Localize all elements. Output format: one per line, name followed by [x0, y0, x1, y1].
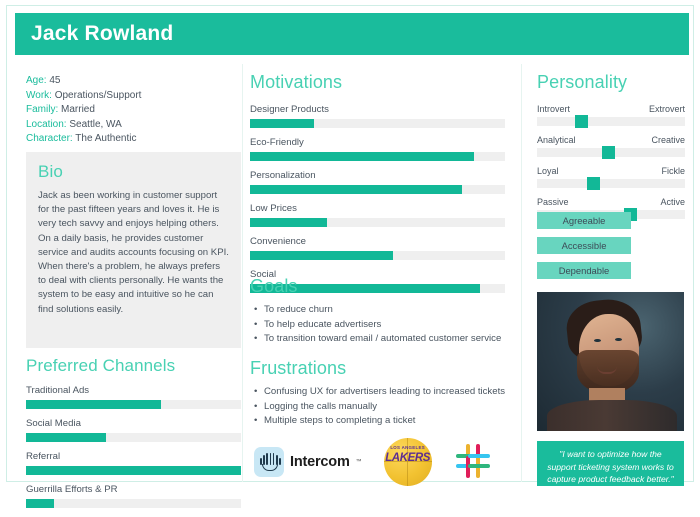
brand-logos: Intercom ™ LOS ANGELES LAKERS	[254, 438, 519, 486]
slack-logo	[454, 442, 494, 482]
attribute-row: Age: 45	[26, 74, 241, 89]
bar-fill	[250, 119, 314, 128]
frustrations-title: Frustrations	[250, 358, 515, 379]
bio-panel: Bio Jack as been working in customer sup…	[26, 152, 241, 348]
bio-title: Bio	[38, 162, 229, 182]
attribute-value: The Authentic	[73, 133, 137, 144]
list-item: To help educate advertisers	[264, 318, 515, 333]
photo-shirt	[547, 400, 677, 431]
personality-right-label: Active	[660, 197, 685, 207]
attribute-row: Character: The Authentic	[26, 132, 241, 147]
quote-box: "I want to optimize how the support tick…	[537, 441, 684, 486]
preferred-channels-bars: Traditional AdsSocial MediaReferralGuerr…	[26, 385, 241, 508]
bar-track	[250, 185, 505, 194]
personality-right-label: Extrovert	[649, 104, 685, 114]
bar-track	[26, 466, 241, 475]
bar-label: Eco-Friendly	[250, 137, 505, 149]
attribute-key: Character:	[26, 133, 73, 144]
bar-track	[26, 400, 241, 409]
personality-endpoints: PassiveActive	[537, 197, 685, 207]
left-column: Age: 45Work: Operations/SupportFamily: M…	[16, 64, 241, 482]
preferred-channels-title: Preferred Channels	[26, 356, 241, 376]
bio-text: Jack as been working in customer support…	[38, 189, 229, 317]
personality-left-label: Loyal	[537, 166, 559, 176]
goals-section: Goals To reduce churnTo help educate adv…	[250, 276, 515, 347]
goals-list: To reduce churnTo help educate advertise…	[250, 303, 515, 347]
column-divider-left	[242, 64, 243, 482]
personality-left-label: Analytical	[537, 135, 576, 145]
bar-fill	[26, 499, 54, 508]
motivations-section: Motivations Designer ProductsEco-Friendl…	[250, 72, 505, 302]
personality-slider[interactable]	[537, 179, 685, 188]
list-item: Logging the calls manually	[264, 400, 515, 415]
personality-slider[interactable]	[537, 148, 685, 157]
column-divider-right	[521, 64, 522, 482]
attribute-key: Work:	[26, 90, 52, 101]
personality-endpoints: LoyalFickle	[537, 166, 685, 176]
list-item: To transition toward email / automated c…	[264, 332, 515, 347]
bar-label: Personalization	[250, 170, 505, 182]
intercom-icon	[254, 447, 284, 477]
personality-endpoints: AnalyticalCreative	[537, 135, 685, 145]
personality-title: Personality	[537, 72, 685, 93]
bar-fill	[250, 185, 462, 194]
persona-header: Jack Rowland	[15, 13, 689, 55]
attribute-row: Location: Seattle, WA	[26, 118, 241, 133]
trait-tag-accessible[interactable]: Accessible	[537, 237, 631, 254]
bar-track	[26, 433, 241, 442]
bar-track	[26, 499, 241, 508]
bar-fill	[250, 218, 327, 227]
frustrations-list: Confusing UX for advertisers leading to …	[250, 385, 515, 429]
bar-label: Convenience	[250, 236, 505, 248]
slider-knob[interactable]	[602, 146, 615, 159]
attribute-value: Married	[58, 104, 95, 115]
bar-fill	[250, 152, 474, 161]
list-item: Multiple steps to completing a ticket	[264, 414, 515, 429]
attribute-value: 45	[47, 75, 61, 86]
attribute-key: Family:	[26, 104, 58, 115]
avatar	[537, 292, 684, 431]
bar-track	[250, 119, 505, 128]
preferred-channels-section: Preferred Channels Traditional AdsSocial…	[26, 356, 241, 517]
bar-label: Social Media	[26, 418, 241, 430]
bar-track	[250, 218, 505, 227]
personality-row: AnalyticalCreative	[537, 135, 685, 157]
attribute-row: Family: Married	[26, 103, 241, 118]
trait-tag-agreeable[interactable]: Agreeable	[537, 212, 631, 229]
list-item: Confusing UX for advertisers leading to …	[264, 385, 515, 400]
personality-row: IntrovertExtrovert	[537, 104, 685, 126]
goals-title: Goals	[250, 276, 515, 297]
personality-row: LoyalFickle	[537, 166, 685, 188]
right-column: Personality IntrovertExtrovertAnalytical…	[529, 64, 689, 482]
persona-card: Jack Rowland Age: 45Work: Operations/Sup…	[6, 5, 694, 482]
personality-left-label: Passive	[537, 197, 569, 207]
attribute-value: Operations/Support	[52, 90, 142, 101]
intercom-logo: Intercom ™	[254, 447, 362, 477]
personality-slider[interactable]	[537, 117, 685, 126]
bar-fill	[250, 251, 393, 260]
bar-track	[250, 152, 505, 161]
bar-label: Guerrilla Efforts & PR	[26, 484, 241, 496]
bar-label: Referral	[26, 451, 241, 463]
page-title: Jack Rowland	[31, 22, 173, 46]
personality-left-label: Introvert	[537, 104, 570, 114]
intercom-smile-icon	[262, 464, 278, 471]
intercom-trademark: ™	[356, 459, 362, 465]
motivations-bars: Designer ProductsEco-FriendlyPersonaliza…	[250, 104, 505, 293]
personality-endpoints: IntrovertExtrovert	[537, 104, 685, 114]
middle-column: Motivations Designer ProductsEco-Friendl…	[250, 64, 519, 482]
bar-label: Low Prices	[250, 203, 505, 215]
bar-fill	[26, 466, 241, 475]
trait-tag-dependable[interactable]: Dependable	[537, 262, 631, 279]
personality-right-label: Creative	[651, 135, 685, 145]
attribute-value: Seattle, WA	[67, 119, 122, 130]
lakers-city-text: LOS ANGELES	[384, 445, 432, 450]
attribute-row: Work: Operations/Support	[26, 89, 241, 104]
slider-knob[interactable]	[575, 115, 588, 128]
lakers-name-text: LAKERS	[384, 452, 432, 464]
bar-fill	[26, 433, 106, 442]
attribute-list: Age: 45Work: Operations/SupportFamily: M…	[16, 64, 241, 147]
frustrations-section: Frustrations Confusing UX for advertiser…	[250, 358, 515, 429]
personality-sliders: IntrovertExtrovertAnalyticalCreativeLoya…	[537, 104, 685, 219]
personality-section: Personality IntrovertExtrovertAnalytical…	[537, 72, 685, 228]
bar-label: Traditional Ads	[26, 385, 241, 397]
attribute-key: Location:	[26, 119, 67, 130]
slider-knob[interactable]	[587, 177, 600, 190]
attribute-key: Age:	[26, 75, 47, 86]
lakers-logo: LOS ANGELES LAKERS	[384, 438, 432, 486]
intercom-wordmark: Intercom	[290, 454, 350, 470]
bar-label: Designer Products	[250, 104, 505, 116]
bar-fill	[26, 400, 161, 409]
bar-track	[250, 251, 505, 260]
list-item: To reduce churn	[264, 303, 515, 318]
trait-tags: AgreeableAccessibleDependable	[537, 212, 685, 287]
personality-right-label: Fickle	[661, 166, 685, 176]
motivations-title: Motivations	[250, 72, 505, 93]
